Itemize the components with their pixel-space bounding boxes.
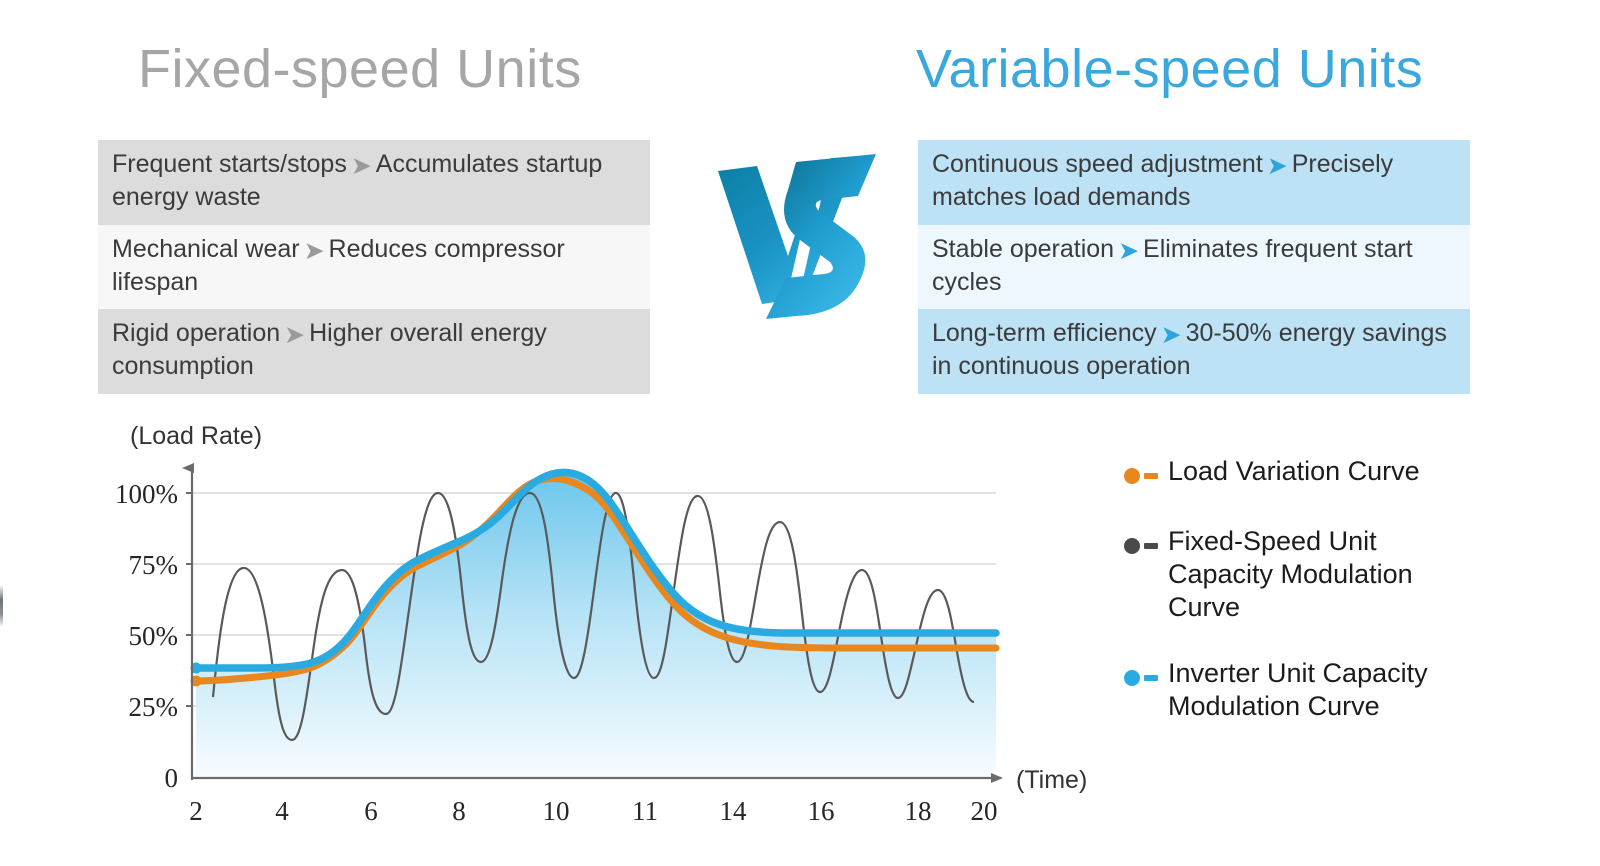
vs-badge	[700, 138, 890, 328]
vs-logo-icon	[700, 138, 890, 328]
arrow-right-icon: ➤	[1161, 323, 1182, 348]
list-item: Frequent starts/stops➤Accumulates startu…	[98, 140, 650, 225]
fixed-speed-drawbacks-panel: Frequent starts/stops➤Accumulates startu…	[98, 140, 650, 394]
arrow-right-icon: ➤	[284, 323, 305, 348]
list-item: Rigid operation➤Higher overall energy co…	[98, 309, 650, 394]
list-item: Long-term efficiency➤30-50% energy savin…	[918, 309, 1470, 394]
chart-xlabel: (Time)	[1016, 766, 1087, 794]
row-text-before: Stable operation	[932, 235, 1114, 263]
y-tick-label: 25%	[129, 692, 179, 722]
x-tick-label: 2	[189, 796, 203, 826]
y-tick-label: 0	[165, 763, 179, 793]
chart-ylabel: (Load Rate)	[130, 422, 262, 451]
slide-canvas: Fixed-speed Units Variable-speed Units F…	[0, 0, 1600, 866]
x-tick-label: 11	[632, 796, 658, 826]
legend-item-fixed-speed[interactable]: Fixed-Speed Unit Capacity Modulation Cur…	[1122, 525, 1522, 625]
list-item: Mechanical wear➤Reduces compressor lifes…	[98, 225, 650, 310]
row-text-before: Mechanical wear	[112, 235, 300, 263]
x-tick-label: 20	[971, 796, 998, 826]
x-tick-label: 6	[364, 796, 378, 826]
legend-item-inverter[interactable]: Inverter Unit Capacity Modulation Curve	[1122, 657, 1522, 723]
legend-label: Inverter Unit Capacity Modulation Curve	[1168, 657, 1478, 723]
edge-artifact	[0, 585, 3, 627]
chart-plot-area: 100% 75% 50% 25% 0 2 4 6 8 10 11 14 16 1…	[96, 450, 1116, 850]
legend-marker-icon	[1122, 529, 1168, 563]
row-text-before: Continuous speed adjustment	[932, 150, 1263, 178]
list-item: Continuous speed adjustment➤Precisely ma…	[918, 140, 1470, 225]
arrow-right-icon: ➤	[1118, 239, 1139, 264]
y-tick-label: 50%	[129, 621, 179, 651]
list-item: Stable operation➤Eliminates frequent sta…	[918, 225, 1470, 310]
y-tick-label: 75%	[129, 550, 179, 580]
y-tick-label: 100%	[115, 479, 178, 509]
x-tick-label: 18	[905, 796, 932, 826]
legend-marker-icon	[1122, 661, 1168, 695]
variable-speed-benefits-panel: Continuous speed adjustment➤Precisely ma…	[918, 140, 1470, 394]
x-tick-label: 10	[543, 796, 570, 826]
arrow-right-icon: ➤	[304, 239, 325, 264]
row-text-before: Long-term efficiency	[932, 319, 1157, 347]
legend-marker-icon	[1122, 459, 1168, 493]
page-title-fixed-speed: Fixed-speed Units	[138, 38, 582, 100]
legend-item-load-variation[interactable]: Load Variation Curve	[1122, 455, 1522, 493]
x-tick-label: 16	[808, 796, 835, 826]
row-text-before: Rigid operation	[112, 319, 280, 347]
x-tick-label: 8	[452, 796, 466, 826]
chart-area-fill	[196, 472, 996, 777]
row-text-before: Frequent starts/stops	[112, 150, 347, 178]
page-title-variable-speed: Variable-speed Units	[916, 38, 1423, 100]
arrow-right-icon: ➤	[351, 154, 372, 179]
chart-legend: Load Variation Curve Fixed-Speed Unit Ca…	[1122, 455, 1522, 755]
legend-label: Load Variation Curve	[1168, 455, 1420, 488]
legend-label: Fixed-Speed Unit Capacity Modulation Cur…	[1168, 525, 1478, 625]
x-tick-label: 4	[275, 796, 289, 826]
x-tick-label: 14	[720, 796, 748, 826]
arrow-right-icon: ➤	[1267, 154, 1288, 179]
